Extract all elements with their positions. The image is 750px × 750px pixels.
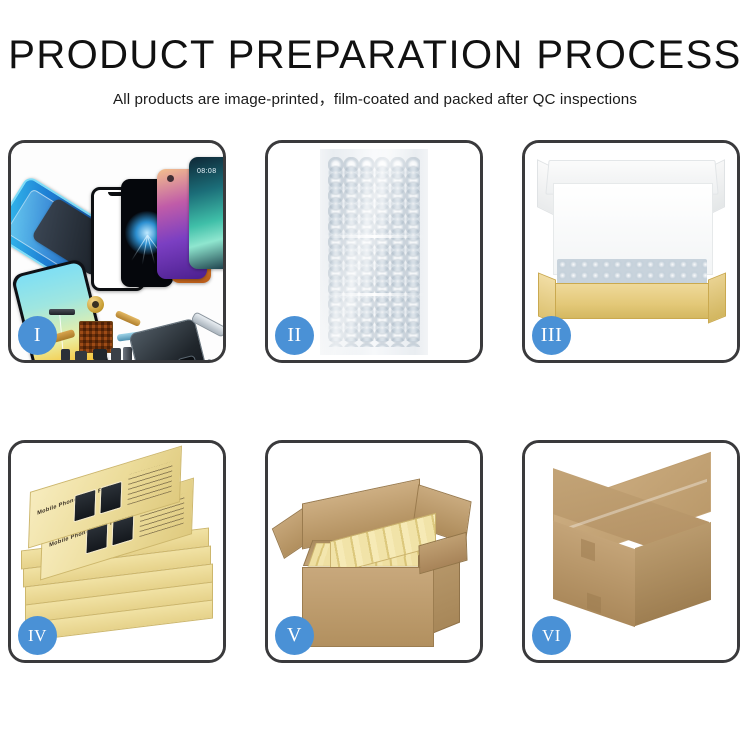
wrap-seam <box>322 235 426 238</box>
page-title: PRODUCT PREPARATION PROCESS <box>0 0 750 76</box>
bubble-pattern-offset <box>328 165 420 341</box>
phone-status-text: 08:08 <box>197 168 217 175</box>
step-panel-5[interactable]: V <box>265 440 483 663</box>
speaker-icon <box>87 296 104 313</box>
header: PRODUCT PREPARATION PROCESS All products… <box>0 0 750 109</box>
flex-cable-icon <box>115 310 142 327</box>
step-panel-2[interactable]: II <box>265 140 483 363</box>
box-window-icon <box>73 489 96 523</box>
step-panel-6[interactable]: VI <box>522 440 740 663</box>
step-badge-2: II <box>275 316 314 355</box>
step-badge-4: IV <box>18 616 57 655</box>
process-steps-grid: 08:08 <box>8 140 742 685</box>
screw-icon <box>207 359 212 360</box>
step-badge-5: V <box>275 616 314 655</box>
phone-teal-icon: 08:08 <box>189 157 223 269</box>
component-icon <box>61 349 70 360</box>
camera-icon <box>167 175 174 182</box>
step-panel-3[interactable]: III <box>522 140 740 363</box>
box-spec-lines <box>127 461 172 505</box>
step-badge-1: I <box>18 316 57 355</box>
vibrator-icon <box>123 347 132 360</box>
component-icon <box>93 349 107 360</box>
box-front-panel <box>547 283 717 319</box>
carton-front-panel <box>302 567 434 647</box>
camera-lens-icon <box>177 355 199 360</box>
earpiece-icon <box>49 309 75 315</box>
product-preparation-infographic: PRODUCT PREPARATION PROCESS All products… <box>0 0 750 750</box>
component-icon <box>111 348 121 360</box>
component-icon <box>75 351 87 360</box>
page-subtitle: All products are image-printed，film-coat… <box>0 76 750 109</box>
step-panel-1[interactable]: 08:08 <box>8 140 226 363</box>
step-badge-3: III <box>532 316 571 355</box>
step-badge-6: VI <box>532 616 571 655</box>
box-window-icon <box>99 481 122 515</box>
wrap-seam <box>322 293 426 296</box>
step-panel-4[interactable]: Mobile Phone Spare Parts Mobile Phone Sp… <box>8 440 226 663</box>
